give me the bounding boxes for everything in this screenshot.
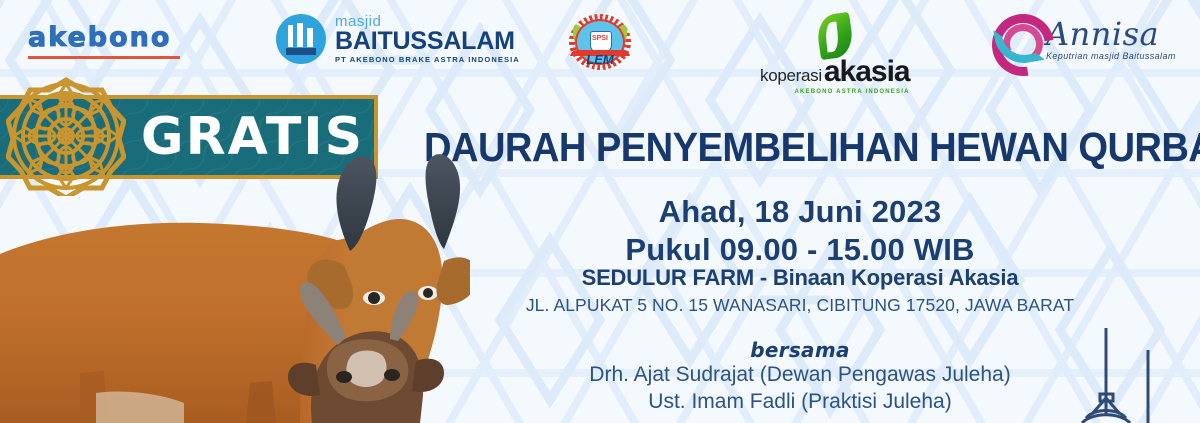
qurban-event-banner: akebono masjid BAITUSSALAM PT AKEBONO BR… <box>0 0 1200 423</box>
akasia-company-line: AKEBONO ASTRA INDONESIA <box>794 89 909 95</box>
akasia-wordmark: akasia <box>824 57 910 87</box>
hijab-woman-icon <box>988 12 1042 66</box>
spsi-inner-label: SPSI <box>591 35 609 42</box>
event-venue: SEDULUR FARM - Binaan Koperasi Akasia JL… <box>420 265 1180 316</box>
event-datetime: Ahad, 18 Juni 2023 Pukul 09.00 - 15.00 W… <box>420 193 1180 269</box>
sponsor-logo-row: akebono masjid BAITUSSALAM PT AKEBONO BR… <box>0 0 1200 88</box>
mosque-lamp-line-icon <box>1062 328 1182 423</box>
logo-spsi-lem: SPSI LEM <box>566 12 634 78</box>
annisa-wordmark: Annisa <box>1046 18 1176 50</box>
baitussalam-company-line: PT AKEBONO BRAKE ASTRA INDONESIA <box>335 56 520 64</box>
annisa-tagline: Keputrian masjid Baitussalam <box>1046 52 1176 61</box>
venue-address: JL. ALPUKAT 5 NO. 15 WANASARI, CIBITUNG … <box>420 295 1180 316</box>
spsi-lem-emblem-icon: SPSI LEM <box>566 12 634 78</box>
logo-koperasi-akasia: koperasi akasia AKEBONO ASTRA INDONESIA <box>760 14 910 95</box>
akasia-prefix: koperasi <box>760 67 822 84</box>
logo-annisa: Annisa Keputrian masjid Baitussalam <box>988 12 1176 66</box>
spsi-lem-label: LEM <box>566 52 634 67</box>
event-time: Pukul 09.00 - 15.00 WIB <box>420 231 1180 269</box>
akebono-wordmark: akebono <box>28 22 171 53</box>
event-title: DAURAH PENYEMBELIHAN HEWAN QURBAN <box>424 124 1131 171</box>
green-leaf-icon <box>812 14 858 60</box>
livestock-illustration <box>0 93 470 423</box>
mosque-dome-icon <box>276 14 326 64</box>
logo-masjid-baitussalam: masjid BAITUSSALAM PT AKEBONO BRAKE ASTR… <box>276 14 520 64</box>
akebono-underline <box>28 56 180 59</box>
event-date: Ahad, 18 Juni 2023 <box>420 193 1180 231</box>
venue-name: SEDULUR FARM - Binaan Koperasi Akasia <box>420 265 1180 291</box>
baitussalam-wordmark: BAITUSSALAM <box>335 29 520 54</box>
logo-akebono: akebono <box>28 22 180 59</box>
